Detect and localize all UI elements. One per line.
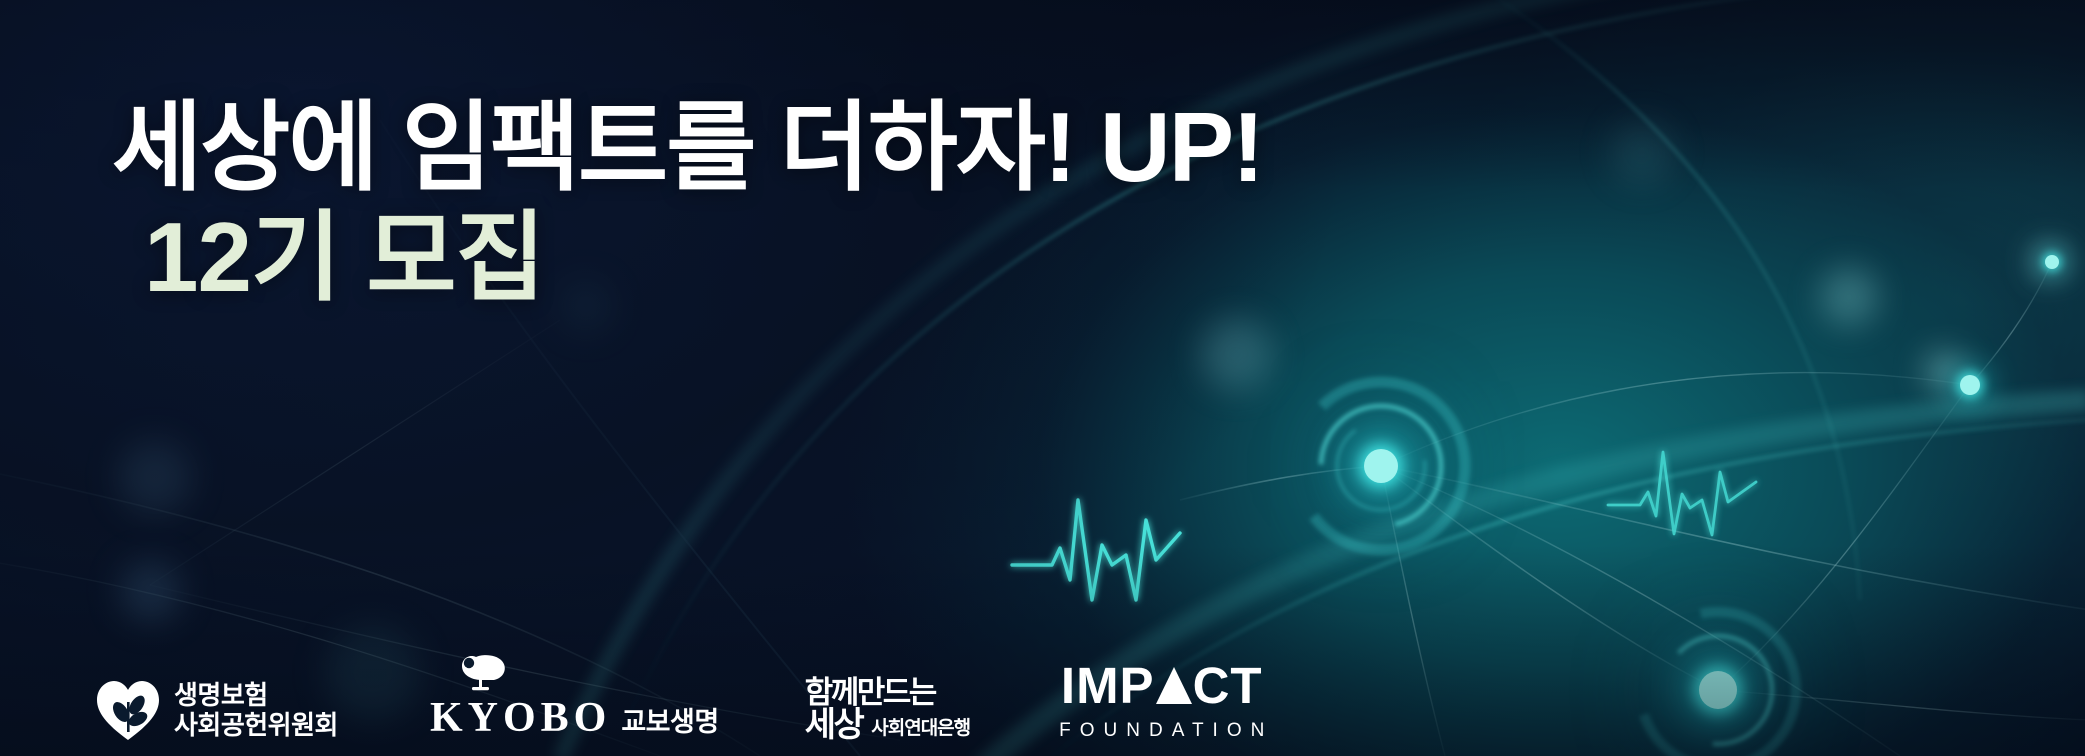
partner-logo-bar: 생명보험 사회공헌위원회 KYOBO 교보생명 함께만드는 세상 사회연대은행 — [96, 654, 1273, 742]
headline-line-2: 12기 모집 — [144, 200, 1263, 316]
logo-impact-foundation: IMP CT FOUNDATION — [1050, 660, 1273, 742]
logo-impact-triangle-a-icon — [1156, 667, 1192, 704]
logo-sbank-line1: 함께만드는 — [805, 677, 935, 708]
logo-sbank-row2: 세상 사회연대은행 — [805, 708, 970, 742]
logo-social-solidarity-bank: 함께만드는 세상 사회연대은행 — [805, 677, 970, 742]
logo-kyobo-row: KYOBO 교보생명 — [430, 694, 719, 742]
logo-klia-csr-line1: 생명보험 — [174, 681, 338, 711]
heart-leaf-icon — [96, 680, 160, 742]
logo-klia-csr-text: 생명보험 사회공헌위원회 — [174, 681, 338, 740]
bird-icon — [452, 654, 510, 692]
logo-kyobo-life: KYOBO 교보생명 — [430, 654, 719, 742]
logo-impact-wordmark: IMP CT — [1061, 660, 1263, 711]
logo-kyobo-korean: 교보생명 — [621, 700, 718, 739]
logo-sbank-subtitle: 사회연대은행 — [871, 713, 970, 742]
logo-klia-csr-line2: 사회공헌위원회 — [174, 711, 338, 741]
headline-block: 세상에 임팩트를 더하자! UP! 12기 모집 — [112, 96, 1263, 316]
headline-line-1: 세상에 임팩트를 더하자! UP! — [112, 96, 1263, 200]
promo-banner: 세상에 임팩트를 더하자! UP! 12기 모집 생명보험 사회공헌위원회 — [0, 0, 2085, 756]
logo-sbank-line2: 세상 — [805, 708, 863, 742]
logo-impact-left: IMP — [1061, 660, 1155, 711]
logo-impact-right: CT — [1193, 660, 1263, 711]
logo-klia-csr: 생명보험 사회공헌위원회 — [96, 680, 338, 742]
logo-impact-subtitle: FOUNDATION — [1050, 720, 1273, 742]
logo-kyobo-wordmark: KYOBO — [430, 694, 611, 742]
